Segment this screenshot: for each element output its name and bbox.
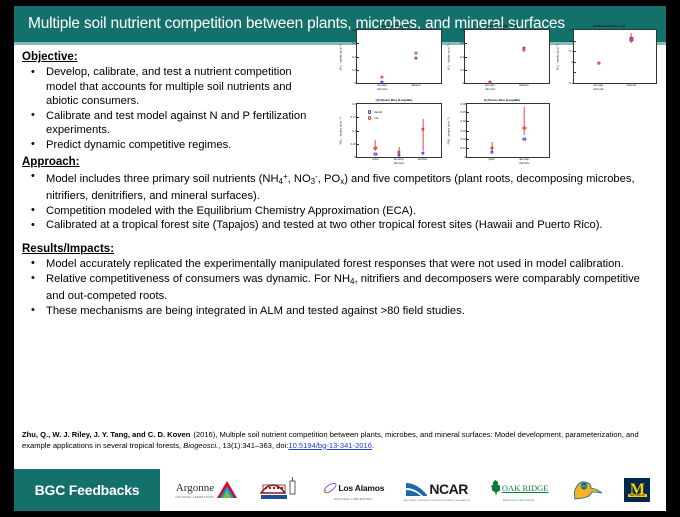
section-results: Results/Impacts: Model accurately replic…: [22, 242, 658, 318]
argonne-sublabel: NATIONAL LABORATORY: [175, 495, 214, 499]
axis-tick: 0.2: [352, 102, 357, 106]
data-point-obs: [522, 49, 525, 52]
axis-tick: mineral: [519, 83, 528, 88]
oak-leaf-icon: [489, 479, 502, 497]
results-figure: (a) Hawaii 300 yr soil PO₄⁻ uptake (g m⁻…: [340, 24, 662, 176]
citation-year: (2016): [190, 430, 215, 439]
objective-bullet-list: Develop, calibrate, and test a nutrient …: [22, 65, 322, 153]
los-alamos-logo: Los Alamos NATIONAL LABORATORY: [322, 480, 384, 501]
uc-irvine-logo: UCI: [567, 477, 605, 503]
legend-label: obs: [374, 116, 378, 120]
axis-tick: decomp.microbe: [394, 157, 405, 165]
citation-authors: Zhu, Q., W. J. Riley, J. Y. Tang, and C.…: [22, 430, 190, 439]
section-heading-objective: Objective:: [22, 50, 322, 64]
legend-entry-obs: obs: [368, 116, 382, 120]
ncar-sublabel: NATIONAL CENTER FOR ATMOSPHERIC RESEARCH: [403, 500, 470, 502]
legend-label: model: [374, 110, 382, 114]
panel-c-plot: PO₄⁻ uptake (g m⁻²) -0.2 0 0.1 0.2 0.3 d…: [573, 29, 657, 84]
list-item: Predict dynamic competitive regimes.: [22, 138, 322, 153]
data-point-model: [421, 152, 424, 155]
list-item: Model accurately replicated the experime…: [22, 257, 658, 272]
section-heading-results: Results/Impacts:: [22, 242, 658, 256]
bgc-feedbacks-brand: BGC Feedbacks: [14, 469, 160, 511]
legend-entry-model: model: [368, 110, 382, 114]
approach-bullet-list: Model includes three primary soil nutrie…: [22, 170, 658, 233]
chart-legend: model obs: [368, 110, 382, 122]
axis-tick: decomp.microbe: [377, 83, 388, 91]
panel-e-ylabel: NH₄⁺ uptake (g m⁻²): [447, 117, 451, 144]
axis-tick: decomp.microbe: [519, 157, 530, 165]
data-point-obs: [597, 61, 600, 64]
legend-marker-icon: [368, 110, 371, 113]
slide: Multiple soil nutrient competition betwe…: [14, 6, 666, 511]
list-item: Competition modeled with the Equilibrium…: [22, 204, 658, 219]
argonne-logo: Argonne NATIONAL LABORATORY: [175, 480, 238, 500]
ncar-wordmark: NCAR: [429, 481, 467, 497]
panel-a-ylabel: PO₄⁻ uptake (g m⁻²): [338, 43, 342, 70]
citation-end: .: [372, 441, 374, 450]
data-point-model: [490, 151, 493, 154]
results-bullet-list: Model accurately replicated the experime…: [22, 257, 658, 318]
figure-row-bottom: (d) Puerto Rico (Luquillo) NO₃⁻ uptake (…: [340, 98, 662, 158]
chart-panel-d: (d) Puerto Rico (Luquillo) NO₃⁻ uptake (…: [340, 98, 448, 158]
axis-tick: mineral: [411, 83, 420, 88]
axis-tick: nitrifier: [418, 157, 427, 162]
axis-tick: plant: [372, 157, 378, 162]
data-point-model: [414, 57, 417, 60]
panel-d-ylabel: NO₃⁻ uptake (g m⁻²): [339, 117, 343, 144]
list-item: Develop, calibrate, and test a nutrient …: [22, 65, 322, 109]
los-alamos-sublabel: NATIONAL LABORATORY: [334, 497, 373, 501]
axis-tick: 0.8: [352, 28, 357, 32]
panel-c-ylabel: PO₄⁻ uptake (g m⁻²): [555, 43, 559, 70]
ncar-swoosh-icon: [405, 479, 429, 499]
michigan-logo: M MICHIGAN: [624, 478, 650, 502]
axis-tick: decomp.microbe: [593, 83, 604, 91]
axis-tick: plant: [489, 157, 495, 162]
michigan-sublabel: MICHIGAN: [628, 494, 648, 497]
axis-tick: decomp.microbe: [485, 83, 496, 91]
data-point-obs: [421, 128, 424, 131]
brookhaven-logo: BROOKHAVEN: [257, 475, 303, 506]
argonne-triangle-icon: [216, 480, 238, 500]
chart-panel-c: (c) Hawaii 4.1M yr soil PO₄⁻ uptake (g m…: [556, 24, 662, 84]
section-objective: Objective: Develop, calibrate, and test …: [22, 50, 322, 153]
panel-a-plot: PO₄⁻ uptake (g m⁻²) 0 0.2 0.4 0.6 0.8 de…: [356, 29, 442, 84]
data-point-model: [523, 137, 526, 140]
chart-panel-a: (a) Hawaii 300 yr soil PO₄⁻ uptake (g m⁻…: [340, 24, 448, 84]
uc-irvine-anteater-icon: UCI: [567, 477, 605, 503]
michigan-block-m-icon: M MICHIGAN: [624, 478, 650, 502]
los-alamos-wordmark: Los Alamos: [338, 483, 384, 493]
los-alamos-atom-icon: [322, 480, 338, 496]
ncar-logo: NCAR NATIONAL CENTER FOR ATMOSPHERIC RES…: [403, 479, 470, 502]
chart-panel-e: (e) Puerto Rico (Luquillo) NH₄⁺ uptake (…: [448, 98, 556, 158]
citation-journal: Biogeosci.: [183, 441, 218, 450]
oak-ridge-sublabel: National Laboratory: [503, 498, 535, 502]
doi-link[interactable]: 10.5194/bg-13-341-2016: [288, 441, 372, 450]
axis-tick: 0.06: [461, 102, 467, 106]
partner-logo-strip: Argonne NATIONAL LABORATORY: [160, 469, 666, 511]
figure-row-top: (a) Hawaii 300 yr soil PO₄⁻ uptake (g m⁻…: [340, 24, 662, 84]
axis-tick: 0: [462, 81, 465, 85]
axis-tick: mineral: [627, 83, 636, 88]
list-item: Relative competitiveness of consumers wa…: [22, 272, 658, 304]
data-point-obs: [374, 146, 377, 149]
error-bar: [422, 119, 423, 151]
brookhaven-building-icon: [257, 475, 303, 501]
list-item: These mechanisms are being integrated in…: [22, 304, 658, 319]
oak-ridge-wordmark: OAK RIDGE: [502, 484, 549, 492]
citation-volume: , 13(1):341–363, doi:: [218, 441, 288, 450]
svg-text:UCI: UCI: [582, 485, 588, 489]
axis-tick: 0: [354, 155, 357, 159]
argonne-wordmark: Argonne: [176, 482, 214, 494]
legend-marker-icon: [368, 116, 371, 119]
error-bar: [524, 107, 525, 135]
slide-footer: BGC Feedbacks Argonne NATIONAL LABORATOR…: [14, 469, 666, 511]
panel-e-plot: NH₄⁺ uptake (g m⁻²) 0 0.01 0.02 0.03 0.0…: [466, 103, 550, 158]
data-point-obs: [490, 146, 493, 149]
data-point-obs: [381, 76, 384, 79]
list-item: Calibrated at a tropical forest site (Ta…: [22, 218, 658, 233]
axis-tick: 0: [464, 155, 467, 159]
panel-b-plot: PO₄⁻ uptake (g m⁻²) 0 0.2 0.4 0.6 0.8 de…: [464, 29, 550, 84]
panel-b-ylabel: PO₄⁻ uptake (g m⁻²): [446, 43, 450, 70]
axis-tick: 0: [354, 81, 357, 85]
data-point-obs: [414, 52, 417, 55]
brookhaven-sublabel: BROOKHAVEN: [269, 502, 292, 506]
list-item: Calibrate and test model against N and P…: [22, 109, 322, 138]
axis-tick: 0.8: [460, 28, 465, 32]
axis-tick: -0.2: [568, 81, 574, 85]
citation: Zhu, Q., W. J. Riley, J. Y. Tang, and C.…: [22, 430, 658, 451]
chart-panel-b: (b) Hawaii 20k yr soil PO₄⁻ uptake (g m⁻…: [448, 24, 556, 84]
data-point-model: [397, 153, 400, 156]
data-point-obs: [523, 126, 526, 129]
oak-ridge-logo: OAK RIDGE National Laboratory: [489, 479, 549, 502]
axis-tick: 0.3: [569, 28, 574, 32]
data-point-model: [374, 153, 377, 156]
